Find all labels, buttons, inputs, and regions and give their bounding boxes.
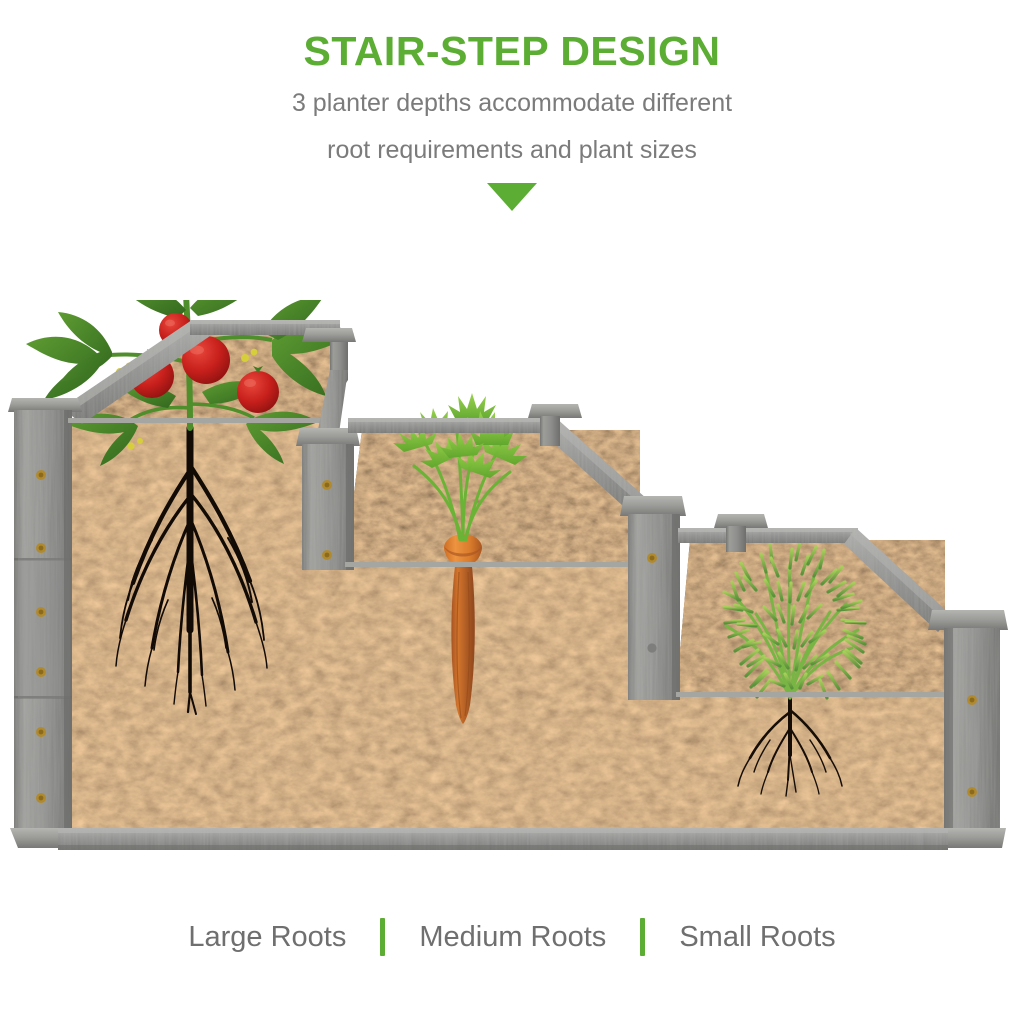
tier-2-back-rail — [348, 418, 558, 433]
left-corner-post — [8, 398, 82, 848]
legend-item-large-roots: Large Roots — [154, 921, 380, 954]
infographic-canvas: STAIR-STEP DESIGN 3 planter depths accom… — [0, 0, 1024, 1024]
page-title: STAIR-STEP DESIGN — [0, 0, 1024, 73]
tiered-raised-garden-bed-cutaway — [0, 300, 1024, 880]
bottom-rail — [58, 828, 948, 850]
header-block: STAIR-STEP DESIGN 3 planter depths accom… — [0, 0, 1024, 211]
tier-3-back-rail — [678, 528, 858, 543]
root-size-legend: Large Roots Medium Roots Small Roots — [0, 918, 1024, 956]
subtitle-line-1: 3 planter depths accommodate different — [0, 73, 1024, 120]
subtitle-line-2: root requirements and plant sizes — [0, 120, 1024, 167]
legend-item-medium-roots: Medium Roots — [385, 921, 640, 954]
step-post-2 — [620, 496, 686, 700]
legend-item-small-roots: Small Roots — [645, 921, 869, 954]
triangle-down-icon — [487, 183, 537, 211]
arrow-container — [0, 167, 1024, 211]
